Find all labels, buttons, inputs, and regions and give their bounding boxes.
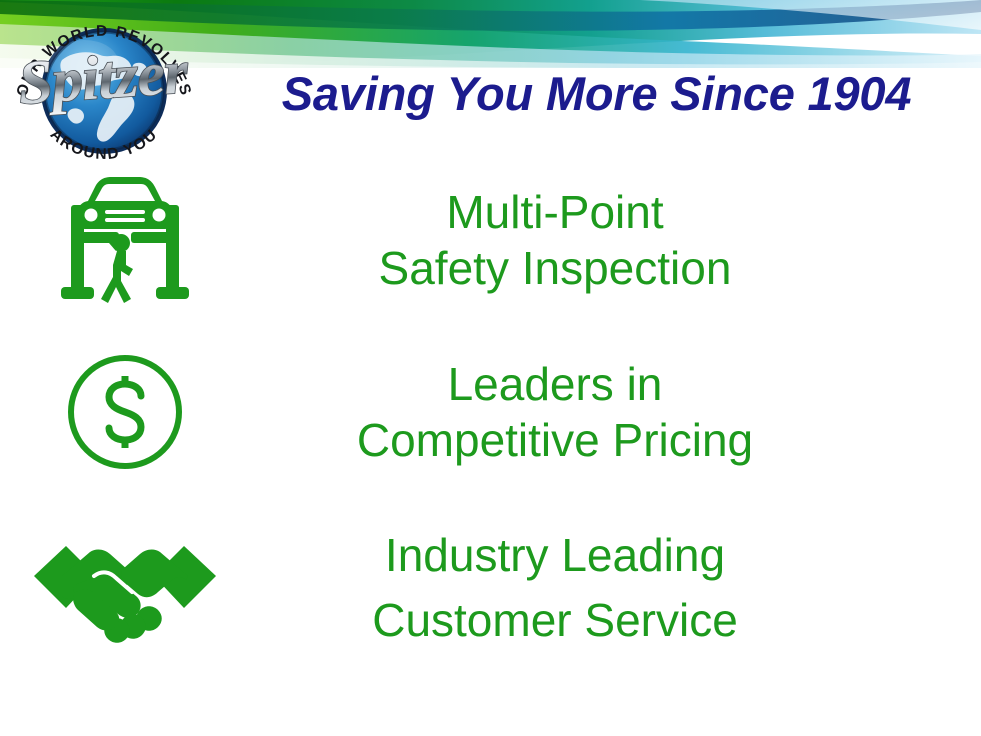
feature-list: Multi-Point Safety Inspection Leaders in… [0,160,981,680]
promo-slide: OUR WORLD REVOLVES AROUND YOU Spitzer Sa… [0,0,981,736]
spitzer-logo: OUR WORLD REVOLVES AROUND YOU Spitzer [4,2,204,180]
page-title: Saving You More Since 1904 [224,66,969,122]
feature-item: Multi-Point Safety Inspection [0,160,860,320]
dollar-circle-icon [0,332,250,492]
feature-label: Leaders in Competitive Pricing [250,356,860,468]
handshake-icon [0,508,250,668]
svg-text:Spitzer: Spitzer [16,38,191,118]
feature-label: Multi-Point Safety Inspection [250,184,860,296]
feature-item: Leaders in Competitive Pricing [0,332,860,492]
logo-wordmark: Spitzer [16,38,191,118]
feature-label: Industry Leading Customer Service [250,523,860,654]
feature-item: Industry Leading Customer Service [0,508,860,668]
car-lift-icon [0,160,250,320]
